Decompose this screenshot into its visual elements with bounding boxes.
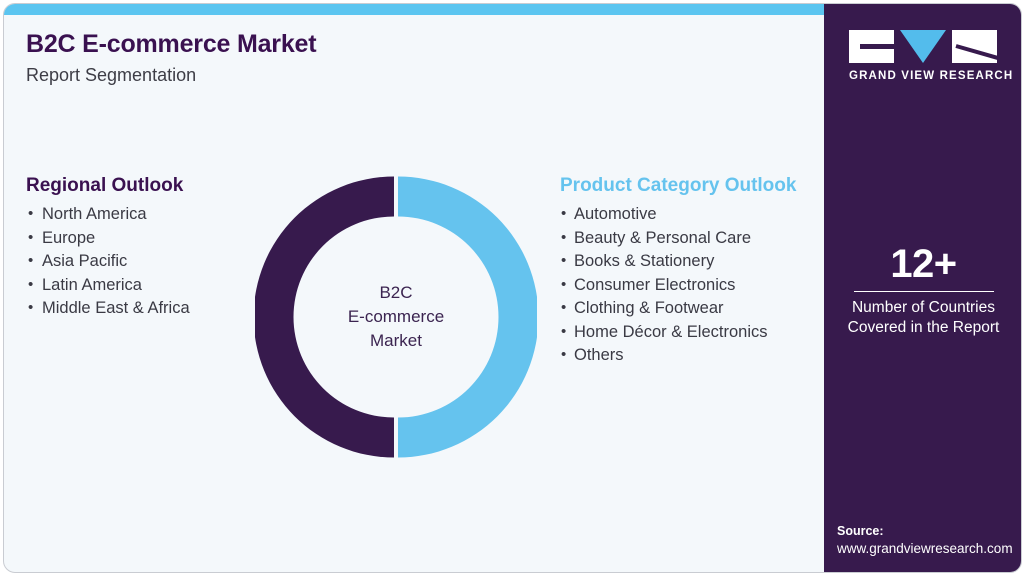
countries-stat-value: 12+ xyxy=(824,242,1022,286)
regional-outlook-heading: Regional Outlook xyxy=(26,175,256,197)
list-item: Latin America xyxy=(26,274,256,298)
list-item: Books & Stationery xyxy=(560,250,822,274)
list-item: Automotive xyxy=(560,203,822,227)
page-title: B2C E-commerce Market xyxy=(26,30,316,59)
donut-chart: B2C E-commerce Market xyxy=(255,176,537,458)
list-item: Others xyxy=(560,344,822,368)
infographic-canvas: B2C E-commerce Market Report Segmentatio… xyxy=(0,0,1025,576)
list-item: Consumer Electronics xyxy=(560,274,822,298)
countries-stat-label-line-1: Number of Countries xyxy=(824,298,1022,318)
list-item: Middle East & Africa xyxy=(26,297,256,321)
regional-outlook-list: North America Europe Asia Pacific Latin … xyxy=(26,203,256,321)
logo-letter-r-icon xyxy=(952,30,997,63)
list-item: Beauty & Personal Care xyxy=(560,227,822,251)
logo-marks xyxy=(849,30,997,63)
accent-top-bar xyxy=(4,4,824,15)
product-category-outlook-heading: Product Category Outlook xyxy=(560,175,822,197)
donut-slice-regional xyxy=(255,177,394,458)
grand-view-research-logo: GRAND VIEW RESEARCH xyxy=(849,30,999,82)
source-label: Source: xyxy=(837,523,1022,540)
list-item: North America xyxy=(26,203,256,227)
report-card: B2C E-commerce Market Report Segmentatio… xyxy=(3,3,1022,573)
countries-stat-label-line-2: Covered in the Report xyxy=(824,318,1022,338)
source-block: Source: www.grandviewresearch.com xyxy=(837,523,1022,558)
source-url: www.grandviewresearch.com xyxy=(837,540,1022,558)
list-item: Clothing & Footwear xyxy=(560,297,822,321)
list-item: Europe xyxy=(26,227,256,251)
list-item: Asia Pacific xyxy=(26,250,256,274)
countries-stat: 12+ Number of Countries Covered in the R… xyxy=(824,242,1022,338)
left-content-pane: B2C E-commerce Market Report Segmentatio… xyxy=(4,15,824,573)
logo-letter-g-icon xyxy=(849,30,894,63)
stat-divider xyxy=(854,291,994,292)
product-category-outlook-list: Automotive Beauty & Personal Care Books … xyxy=(560,203,822,368)
logo-letter-v-icon xyxy=(900,30,946,63)
regional-outlook-section: Regional Outlook North America Europe As… xyxy=(26,175,256,321)
page-subtitle: Report Segmentation xyxy=(26,65,196,86)
donut-slice-product xyxy=(398,177,537,458)
donut-chart-svg xyxy=(255,176,537,458)
list-item: Home Décor & Electronics xyxy=(560,321,822,345)
product-category-outlook-section: Product Category Outlook Automotive Beau… xyxy=(560,175,822,368)
brand-sidebar: GRAND VIEW RESEARCH 12+ Number of Countr… xyxy=(824,4,1022,573)
logo-wordmark: GRAND VIEW RESEARCH xyxy=(849,70,999,82)
